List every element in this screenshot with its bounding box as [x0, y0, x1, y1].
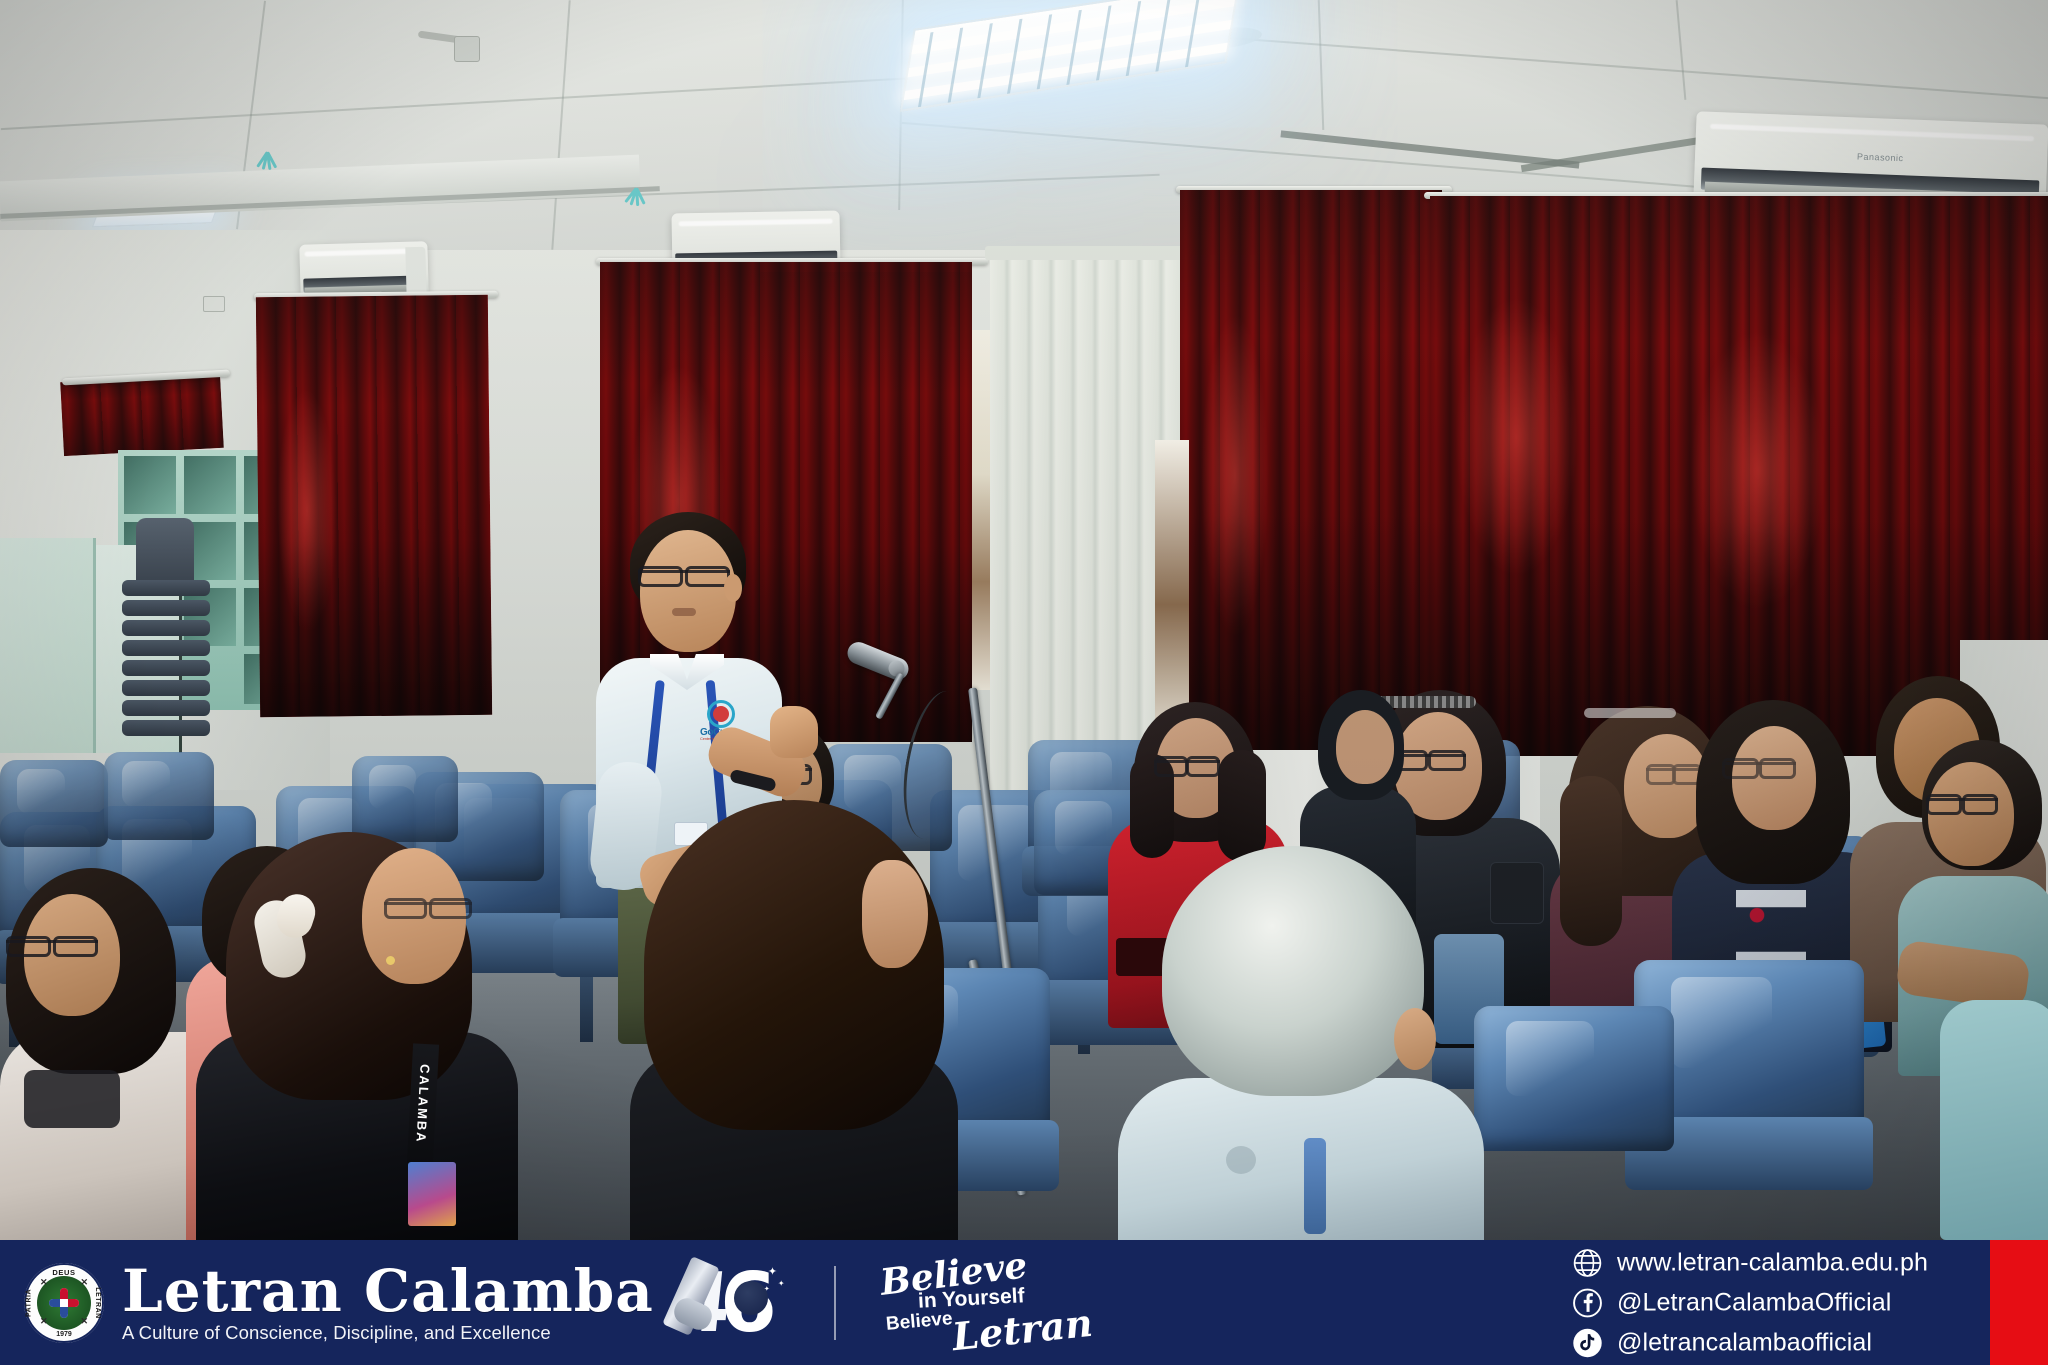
speaker-head — [640, 530, 736, 652]
institution-tagline: A Culture of Conscience, Discipline, and… — [122, 1324, 654, 1343]
ear — [1394, 1008, 1436, 1070]
eyeglasses — [638, 570, 730, 573]
window-opening — [1155, 440, 1189, 740]
wall-bracket — [418, 20, 470, 64]
believe-line-3: Believe — [885, 1308, 953, 1336]
footer-red-accent — [1990, 1240, 2048, 1365]
curtain-valance — [60, 374, 224, 456]
window-curtain — [256, 295, 492, 717]
contact-list: www.letran-calamba.edu.ph @LetranCalamba… — [1572, 1247, 1928, 1358]
ceiling-grid-line — [1318, 0, 1325, 130]
ceiling-grid-line — [551, 0, 570, 250]
screenshot-root: Panasonic — [0, 0, 2048, 1365]
stacked-chairs — [122, 580, 212, 760]
lanyard-text: CALAMBA — [413, 1064, 432, 1144]
lanyard-strap — [1304, 1138, 1326, 1234]
cross-emblem — [49, 1288, 79, 1318]
wall-outlet — [203, 296, 225, 312]
cheek — [862, 860, 928, 968]
ac-brand-label: Panasonic — [1857, 151, 1904, 163]
footer-brand-bar: DEUS PATRIA LETRAN 1979 ✕ ✕ ✕ ✕ Letran C… — [0, 1240, 2048, 1365]
believe-tagline: Believe in Yourself Believe Letran — [880, 1255, 1060, 1351]
anniversary-badge: 4 6 ✦ ✦ ✦ — [672, 1257, 790, 1349]
knight-icon — [734, 1281, 768, 1315]
shirt-button — [1226, 1146, 1256, 1174]
institution-wordmark: Letran Calamba A Culture of Conscience, … — [122, 1262, 654, 1343]
letran-seal-logo: DEUS PATRIA LETRAN 1979 ✕ ✕ ✕ ✕ — [24, 1263, 104, 1343]
tinsel-decoration — [253, 152, 279, 186]
institution-name: Letran Calamba — [122, 1262, 654, 1320]
brand-lockup: DEUS PATRIA LETRAN 1979 ✕ ✕ ✕ ✕ Letran C… — [0, 1255, 1060, 1351]
tinsel-decoration — [622, 188, 648, 222]
contact-facebook[interactable]: @LetranCalambaOfficial — [1572, 1287, 1928, 1318]
seal-year: 1979 — [24, 1331, 104, 1338]
seal-word-left: PATRIA — [26, 1288, 33, 1316]
speaker-hand — [770, 706, 818, 758]
audience-member — [630, 800, 960, 1240]
audience-member — [1940, 940, 2048, 1240]
seal-word-right: LETRAN — [94, 1287, 101, 1318]
window-curtain — [1180, 190, 1442, 750]
earring — [386, 956, 395, 965]
tiktok-icon — [1572, 1327, 1603, 1358]
window-curtain — [1430, 196, 2048, 756]
event-photo: Panasonic — [0, 0, 2048, 1240]
contact-tiktok[interactable]: @letrancalambaofficial — [1572, 1327, 1928, 1358]
audience-member — [1118, 846, 1488, 1240]
ear — [724, 574, 742, 602]
audience-member: CALAMBA — [196, 832, 526, 1240]
website-label: www.letran-calamba.edu.ph — [1617, 1248, 1928, 1277]
ceiling-grid-line — [1676, 0, 1687, 100]
globe-icon — [1572, 1247, 1603, 1278]
grey-hair — [1162, 846, 1424, 1096]
facebook-icon — [1572, 1287, 1603, 1318]
brand-divider — [834, 1266, 836, 1340]
chair — [1474, 1006, 1674, 1240]
partition-track — [985, 246, 1200, 260]
contact-website[interactable]: www.letran-calamba.edu.ph — [1572, 1247, 1928, 1278]
facebook-label: @LetranCalambaOfficial — [1617, 1288, 1891, 1317]
seal-word-top: DEUS — [24, 1268, 104, 1277]
id-card — [408, 1162, 456, 1226]
room-divider-panel — [0, 538, 96, 753]
tiktok-label: @letrancalambaofficial — [1617, 1328, 1872, 1357]
speaker-mouth — [672, 608, 696, 616]
